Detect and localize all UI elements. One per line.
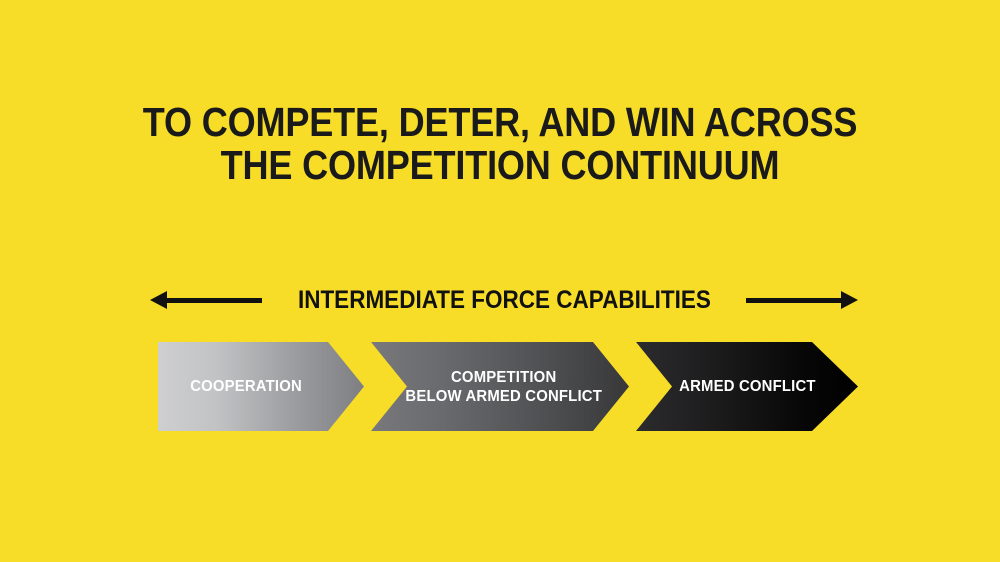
- title-line-1: TO COMPETE, DETER, AND WIN ACROSS: [60, 101, 940, 144]
- continuum-segment-cooperation: COOPERATION: [158, 342, 364, 431]
- title-line-2: THE COMPETITION CONTINUUM: [60, 144, 940, 187]
- segment-label-competition-below-armed-conflict: COMPETITION BELOW ARMED CONFLICT: [406, 368, 603, 406]
- spectrum-label: INTERMEDIATE FORCE CAPABILITIES: [286, 288, 722, 313]
- slide-canvas: TO COMPETE, DETER, AND WIN ACROSS THE CO…: [0, 0, 1000, 562]
- left-arrowhead-icon: [150, 291, 167, 309]
- page-title: TO COMPETE, DETER, AND WIN ACROSS THE CO…: [0, 101, 1000, 187]
- right-arrow-shaft-wrap: [746, 291, 841, 309]
- continuum-segment-armed-conflict: ARMED CONFLICT: [636, 342, 858, 431]
- segment-label-line-1: ARMED CONFLICT: [679, 378, 816, 395]
- competition-continuum-band: COOPERATION COMPETITION BELOW ARMED CONF…: [158, 342, 858, 431]
- continuum-segment-competition-below-armed-conflict: COMPETITION BELOW ARMED CONFLICT: [371, 342, 629, 431]
- right-arrowhead-icon: [841, 291, 858, 309]
- segment-label-armed-conflict: ARMED CONFLICT: [679, 377, 816, 396]
- left-arrow-shaft-wrap: [167, 291, 262, 309]
- segment-label-line-1: COOPERATION: [190, 378, 302, 395]
- segment-label-line-2: BELOW ARMED CONFLICT: [406, 388, 603, 405]
- intermediate-force-capabilities-scale: INTERMEDIATE FORCE CAPABILITIES: [150, 285, 858, 315]
- segment-label-line-1: COMPETITION: [451, 369, 556, 386]
- right-arrow-shaft: [746, 298, 841, 303]
- segment-label-cooperation: COOPERATION: [190, 377, 302, 396]
- left-arrow-shaft: [167, 298, 262, 303]
